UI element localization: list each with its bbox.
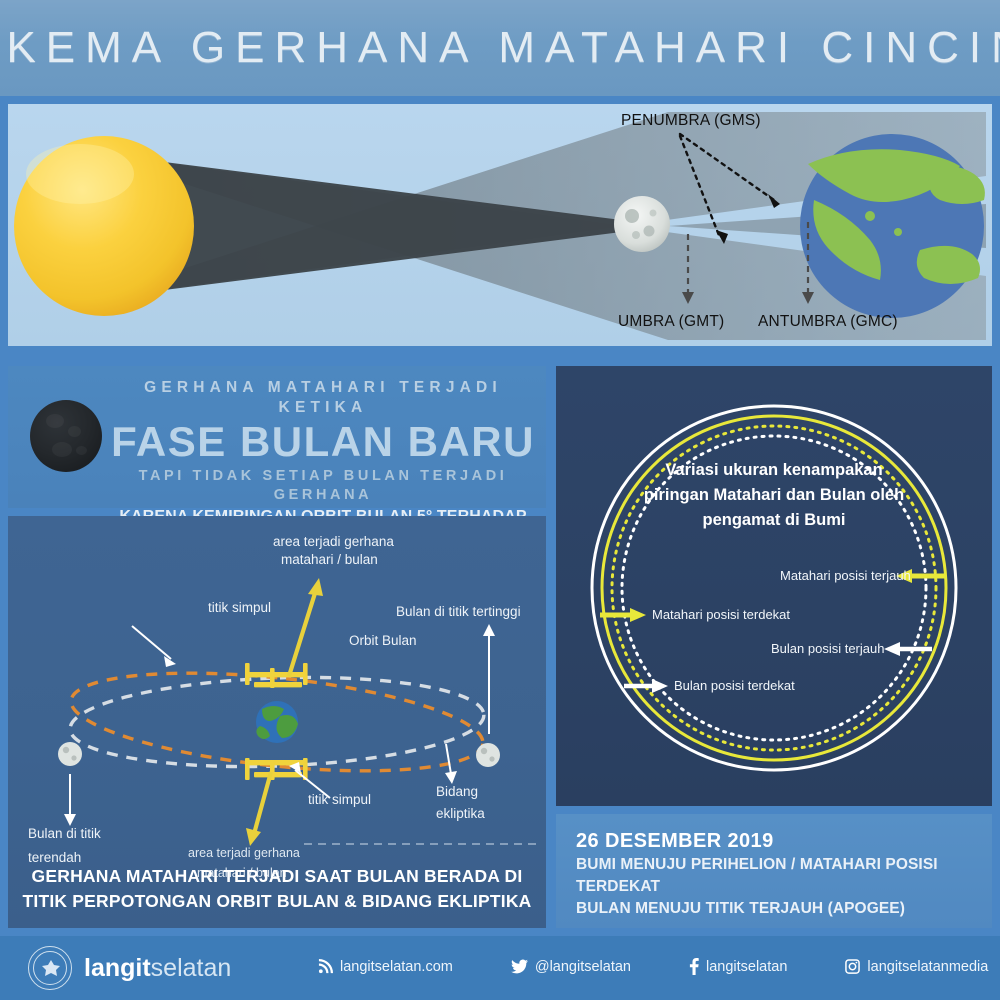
social-label-twitter: @langitselatan — [535, 959, 631, 975]
moon-orbit-panel: area terjadi gerhana matahari / bulan ti… — [8, 516, 546, 928]
label-umbra: UMBRA (GMT) — [618, 313, 724, 331]
social-link-twitter[interactable]: @langitselatan — [511, 959, 631, 975]
facebook-icon — [689, 958, 699, 975]
rss-icon — [318, 959, 333, 974]
apparent-size-title-line-1: Variasi ukuran kenampakan — [616, 458, 932, 483]
label-node-top: titik simpul — [208, 600, 271, 616]
label-orbit-bulan: Orbit Bulan — [349, 633, 417, 649]
apparent-size-title-line-3: pengamat di Bumi — [616, 508, 932, 533]
event-date-line-1: BUMI MENUJU PERIHELION / MATAHARI POSISI… — [576, 854, 992, 898]
earth-icon — [800, 134, 985, 318]
label-antumbra: ANTUMBRA (GMC) — [758, 313, 898, 331]
eclipse-schematic-panel: PENUMBRA (GMS) UMBRA (GMT) ANTUMBRA (GMC… — [8, 104, 992, 346]
event-date-panel: 26 DESEMBER 2019 BUMI MENUJU PERIHELION … — [556, 814, 992, 928]
label-ecliptic-1: Bidang — [436, 784, 478, 800]
apparent-size-svg — [556, 366, 992, 806]
eclipse-area-arrow-bottom — [254, 772, 271, 834]
fase-line-1: GERHANA MATAHARI TERJADI KETIKA — [108, 378, 538, 418]
label-eclipse-area-top-1: area terjadi gerhana — [273, 534, 394, 550]
node-top-leader — [132, 626, 171, 659]
social-link-facebook[interactable]: langitselatan — [689, 958, 787, 975]
earth-small-icon — [256, 701, 298, 743]
label-moon-lowest-1: Bulan di titik — [28, 826, 101, 842]
label-moon-farthest: Bulan posisi terjauh — [771, 641, 884, 656]
social-label-website: langitselatan.com — [340, 959, 453, 975]
fase-headline: FASE BULAN BARU — [108, 419, 538, 465]
apparent-size-panel: Variasi ukuran kenampakan piringan Matah… — [556, 366, 992, 806]
social-links: langitselatan.com @langitselatan langits… — [318, 958, 988, 975]
social-link-website[interactable]: langitselatan.com — [318, 959, 453, 975]
social-label-facebook: langitselatan — [706, 959, 787, 975]
ecliptic-leader — [446, 744, 451, 774]
node-marker-top — [245, 663, 308, 688]
brand-bold: langit — [84, 954, 151, 982]
new-moon-phase-panel: GERHANA MATAHARI TERJADI KETIKA FASE BUL… — [8, 366, 546, 508]
moon-apex-icon — [476, 743, 500, 767]
moon-icon — [614, 196, 670, 252]
label-moon-nearest: Bulan posisi terdekat — [674, 678, 795, 693]
eclipse-area-arrow-top — [289, 590, 316, 676]
label-eclipse-area-bot-1: area terjadi gerhana — [188, 846, 300, 861]
label-ecliptic-2: ekliptika — [436, 806, 485, 822]
social-link-instagram[interactable]: langitselatanmedia — [845, 959, 988, 975]
langitselatan-seal-icon — [28, 946, 72, 990]
page-footer: langitselatan langitselatan.com — [0, 936, 1000, 1000]
label-penumbra: PENUMBRA (GMS) — [621, 112, 761, 130]
orbit-caption-line-1: GERHANA MATAHARI TERJADI SAAT BULAN BERA… — [8, 864, 546, 889]
social-label-instagram: langitselatanmedia — [867, 959, 988, 975]
orbit-caption-line-2: TITIK PERPOTONGAN ORBIT BULAN & BIDANG E… — [8, 889, 546, 914]
event-date-headline: 26 DESEMBER 2019 — [576, 828, 992, 854]
infographic-root: SKEMA GERHANA MATAHARI CINCIN — [0, 0, 1000, 1000]
brand-wordmark: langitselatan — [84, 953, 231, 983]
apparent-size-title-line-2: piringan Matahari dan Bulan oleh — [616, 483, 932, 508]
label-moon-highest: Bulan di titik tertinggi — [396, 604, 521, 620]
label-eclipse-area-top-2: matahari / bulan — [281, 552, 378, 568]
apparent-size-title: Variasi ukuran kenampakan piringan Matah… — [616, 458, 932, 533]
orbit-caption: GERHANA MATAHARI TERJADI SAAT BULAN BERA… — [8, 864, 546, 914]
event-date-line-2: BULAN MENUJU TITIK TERJAUH (APOGEE) — [576, 898, 992, 920]
page-title: SKEMA GERHANA MATAHARI CINCIN — [0, 26, 1000, 70]
new-moon-icon — [30, 400, 102, 472]
label-sun-nearest: Matahari posisi terdekat — [652, 607, 790, 622]
instagram-icon — [845, 959, 860, 974]
brand-light: selatan — [151, 954, 232, 982]
moon-nadir-icon — [58, 742, 82, 766]
fase-line-3: TAPI TIDAK SETIAP BULAN TERJADI GERHANA — [108, 467, 538, 505]
label-node-bottom: titik simpul — [308, 792, 371, 808]
page-header: SKEMA GERHANA MATAHARI CINCIN — [0, 0, 1000, 96]
twitter-icon — [511, 959, 528, 974]
label-sun-farthest: Matahari posisi terjauh — [780, 568, 911, 583]
eclipse-schematic-svg — [8, 104, 992, 346]
